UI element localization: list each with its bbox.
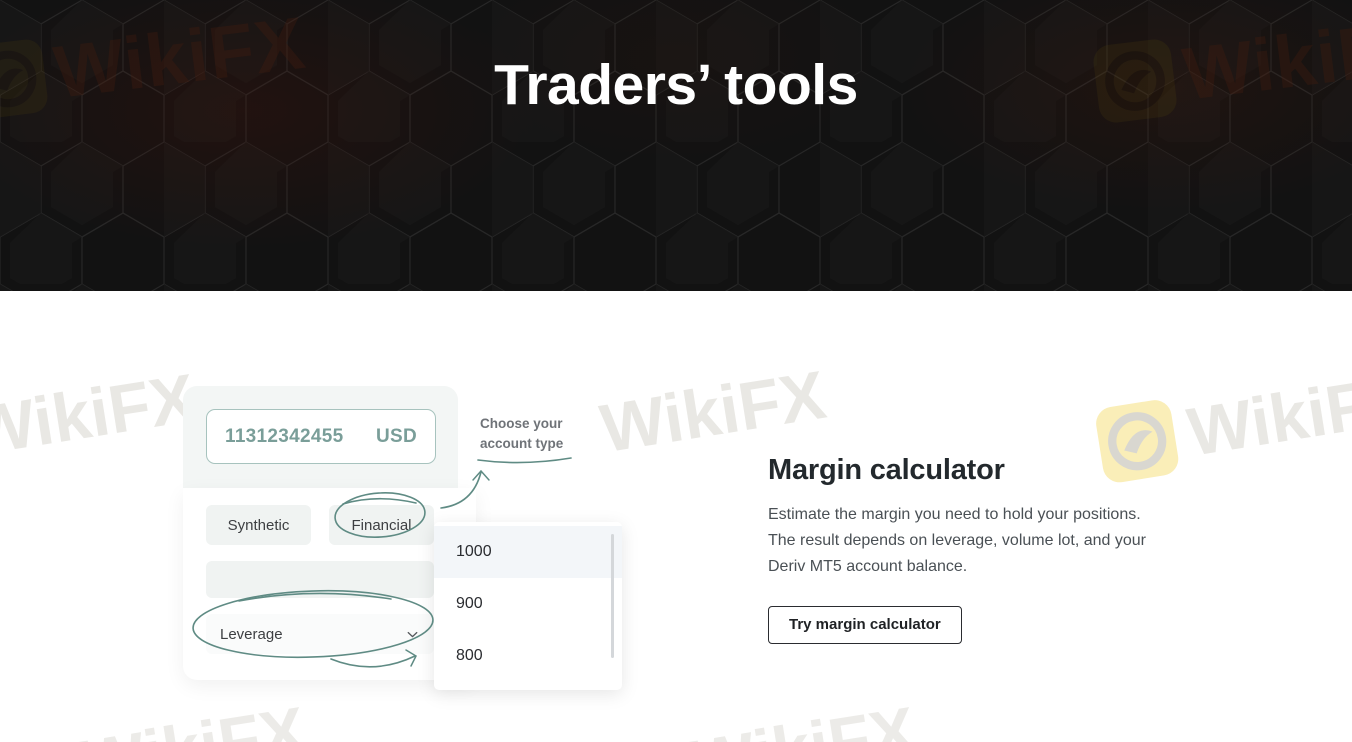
watermark-bottom-left: WikiFX	[75, 692, 311, 742]
watermark-text: WikiF	[1182, 366, 1352, 471]
dropdown-option[interactable]: 1000	[434, 526, 622, 578]
illustration-top-panel: 11312342455 USD	[183, 386, 458, 488]
tab-financial-label: Financial	[351, 517, 411, 534]
hero-banner: WikiFX WikiFX Traders’ tools	[0, 0, 1352, 291]
account-balance-field[interactable]: 11312342455 USD	[206, 409, 436, 464]
volume-input-field[interactable]	[206, 561, 434, 598]
dropdown-option-label: 1000	[456, 543, 492, 561]
leverage-select-label: Leverage	[220, 626, 283, 643]
section-title: Margin calculator	[768, 454, 1188, 487]
watermark-text: WikiFX	[75, 692, 311, 742]
margin-calculator-illustration: 11312342455 USD Synthetic Financial Leve…	[183, 386, 623, 691]
dropdown-scrollbar[interactable]	[611, 534, 614, 658]
account-balance-currency: USD	[376, 426, 417, 448]
margin-calculator-section: Margin calculator Estimate the margin yo…	[768, 454, 1188, 644]
tab-synthetic[interactable]: Synthetic	[206, 505, 311, 545]
hero-hexagon-pattern	[0, 0, 1352, 291]
account-balance-amount: 11312342455	[225, 426, 344, 448]
watermark-center: WikiFX	[595, 356, 831, 468]
watermark-text: WikiFX	[595, 356, 831, 468]
leverage-select[interactable]: Leverage	[206, 614, 434, 654]
main-content: WikiFX WikiFX WikiF WikiFX WikiFX 113123…	[0, 291, 1352, 742]
leverage-dropdown[interactable]: 1000 900 800	[434, 522, 622, 690]
watermark-text: WikiFX	[0, 359, 201, 471]
chevron-down-icon	[405, 627, 420, 642]
dropdown-option-label: 800	[456, 647, 483, 665]
section-description: Estimate the margin you need to hold you…	[768, 502, 1160, 580]
dropdown-option[interactable]: 800	[434, 630, 622, 682]
try-margin-calculator-button[interactable]: Try margin calculator	[768, 606, 962, 644]
tab-financial[interactable]: Financial	[329, 505, 434, 545]
tab-synthetic-label: Synthetic	[228, 517, 290, 534]
annotation-line-1: Choose your	[480, 416, 563, 431]
watermark-left: WikiFX	[0, 359, 201, 471]
annotation-note: Choose your account type	[480, 414, 595, 453]
dropdown-option[interactable]: 900	[434, 578, 622, 630]
page-title: Traders’ tools	[0, 51, 1352, 119]
dropdown-option-label: 900	[456, 595, 483, 613]
watermark-text: WikiFX	[685, 692, 921, 742]
watermark-bottom-center: WikiFX	[685, 692, 921, 742]
illustration-body-panel: Synthetic Financial Leverage	[183, 488, 476, 680]
annotation-line-2: account type	[480, 436, 563, 451]
